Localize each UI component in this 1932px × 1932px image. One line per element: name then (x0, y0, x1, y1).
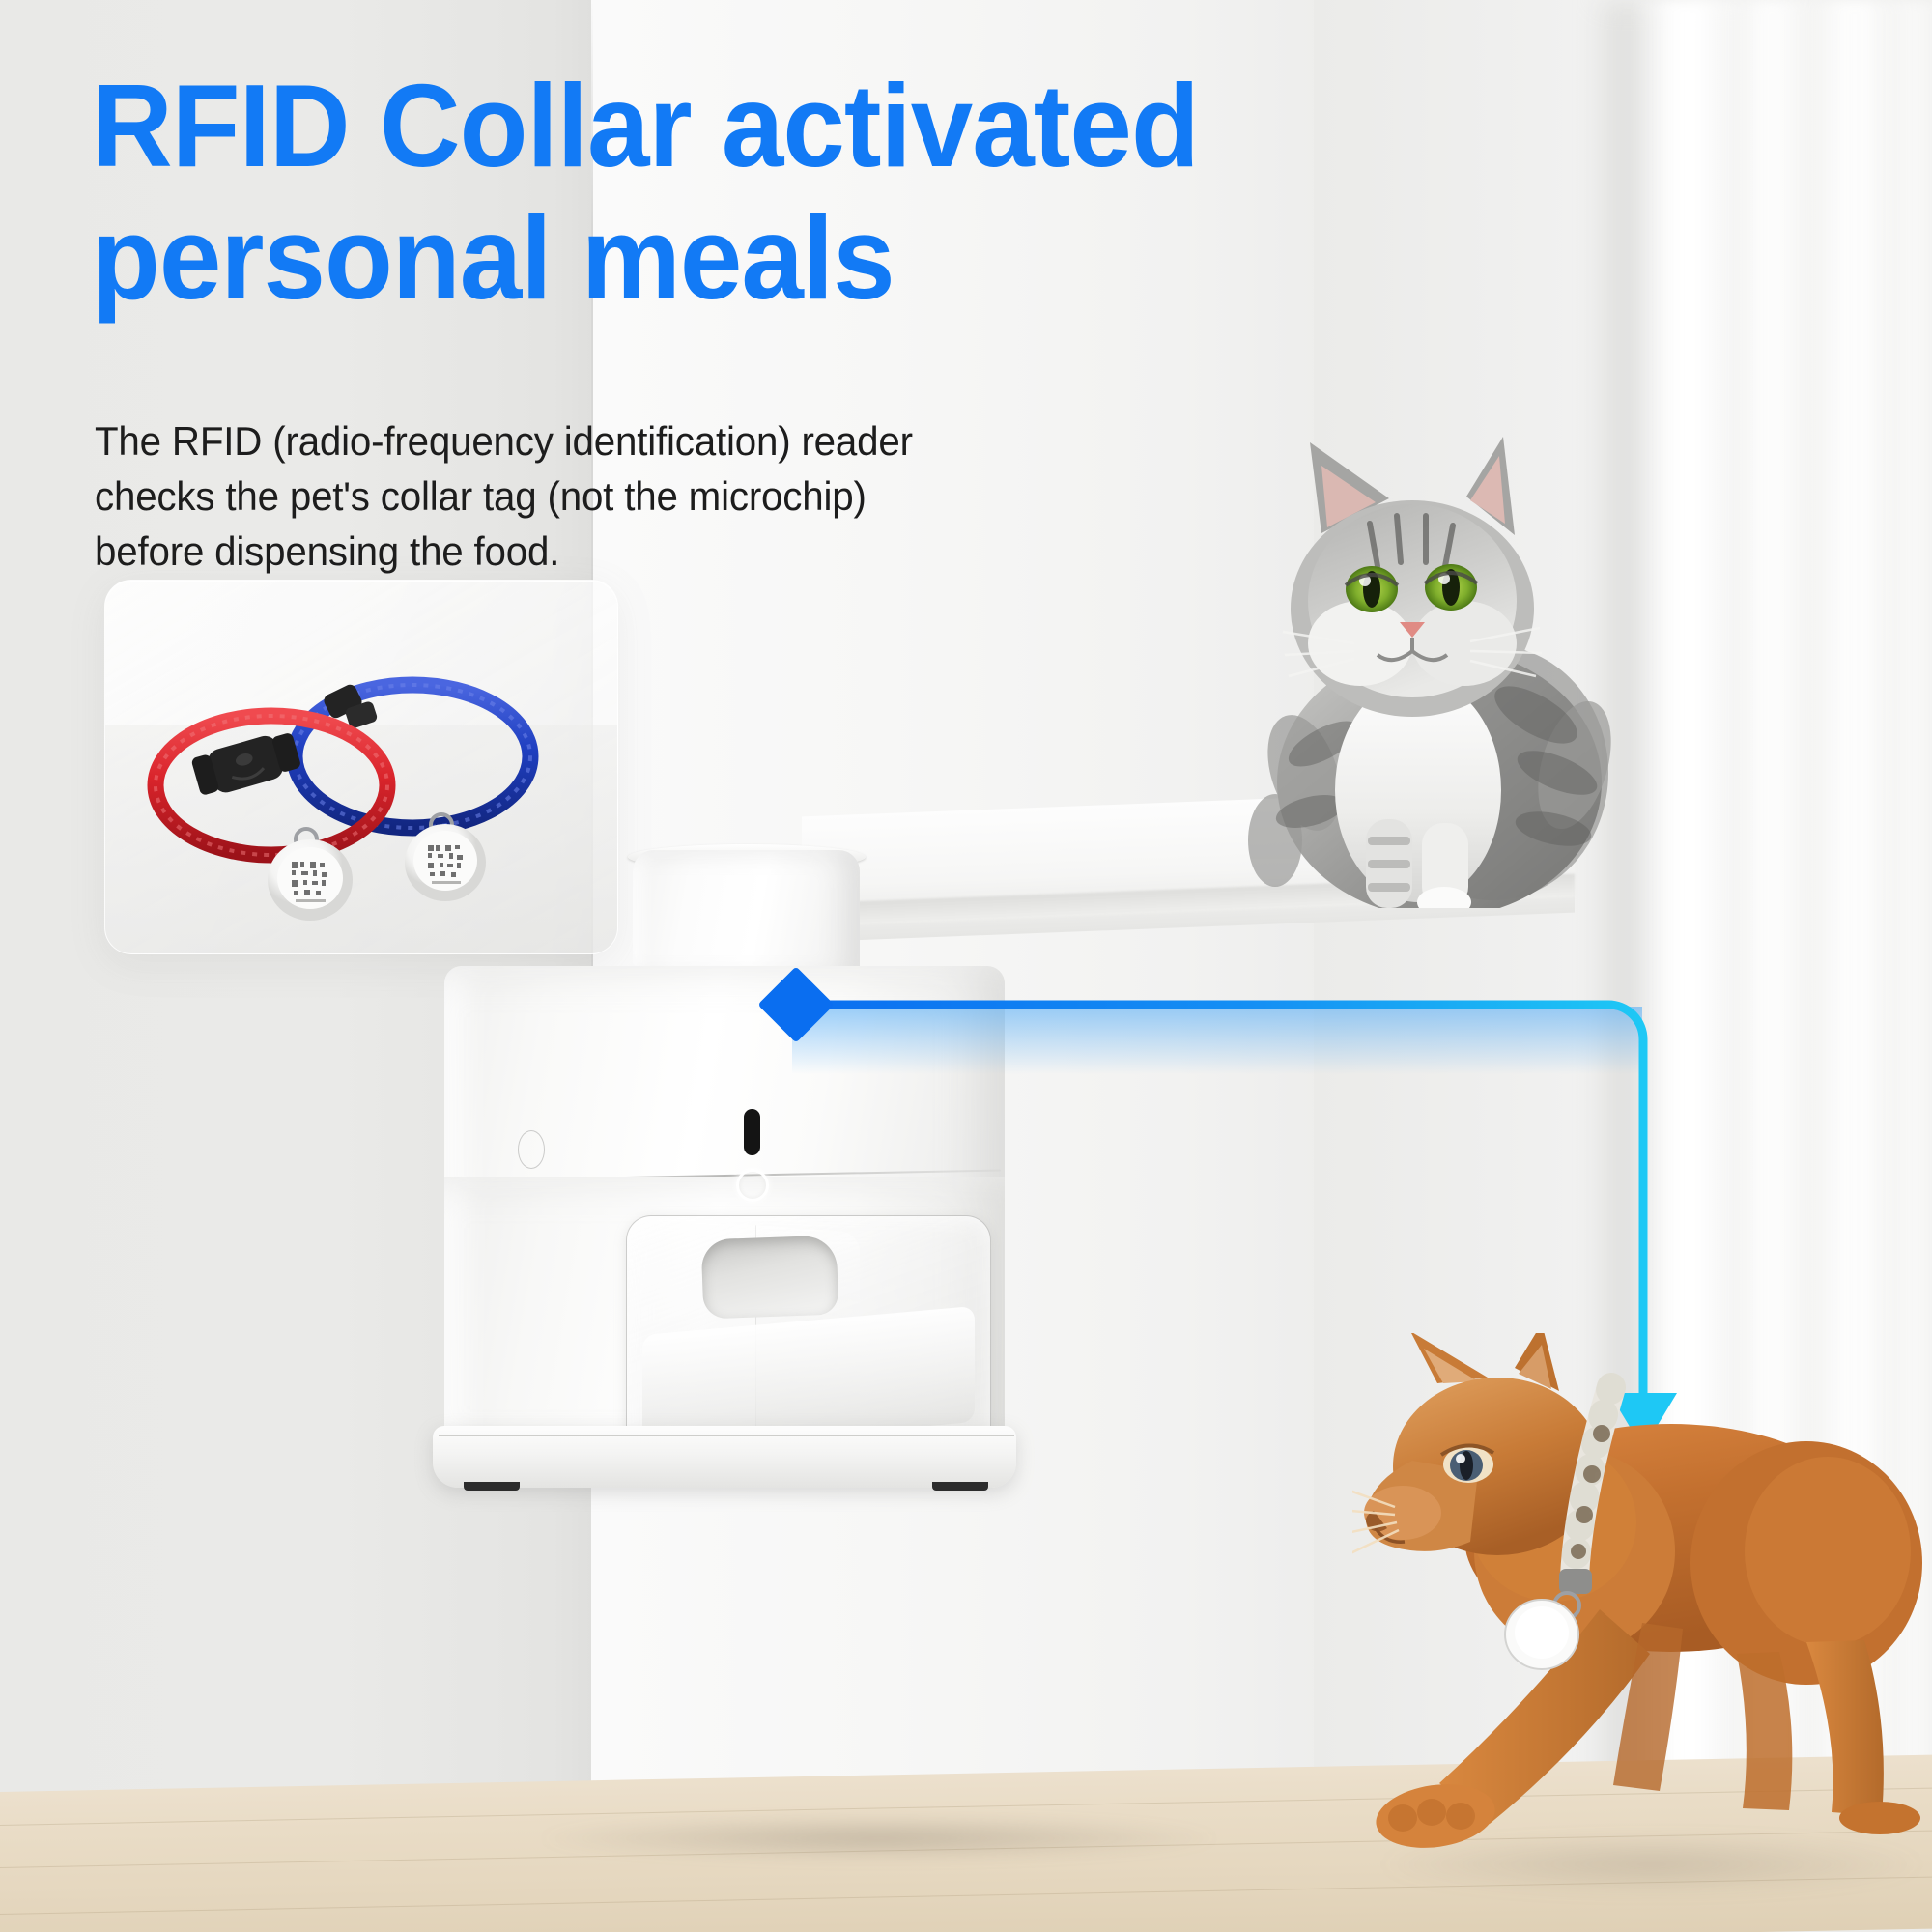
feeder-foot (932, 1482, 988, 1491)
headline-line-2: personal meals (92, 192, 1303, 325)
rfid-sensor-slot (744, 1109, 760, 1155)
power-button[interactable] (736, 1169, 769, 1202)
food-hopper (633, 850, 860, 980)
feeder-base-seam (439, 1435, 1014, 1436)
body-copy-line-2: checks the pet's collar tag (not the mic… (95, 469, 1189, 524)
bowl-access-opening (701, 1236, 839, 1320)
body-copy-line-3: before dispensing the food. (95, 524, 1189, 579)
feeder-floor-shadow (541, 1816, 1217, 1861)
page-title: RFID Collar activated personal meals (92, 60, 1303, 324)
red-collar-tag (268, 839, 353, 921)
automatic-pet-feeder (435, 850, 1053, 1507)
grey-tabby-cat (1246, 425, 1633, 908)
orange-cat (1352, 1333, 1932, 1884)
body-copy-line-1: The RFID (radio-frequency identification… (95, 413, 1189, 469)
body-copy: The RFID (radio-frequency identification… (95, 413, 1189, 579)
headline-line-1: RFID Collar activated (92, 60, 1303, 192)
feeder-side-button[interactable] (518, 1130, 545, 1169)
feeder-foot (464, 1482, 520, 1491)
product-scene: RFID Collar activated personal meals The… (0, 0, 1932, 1932)
